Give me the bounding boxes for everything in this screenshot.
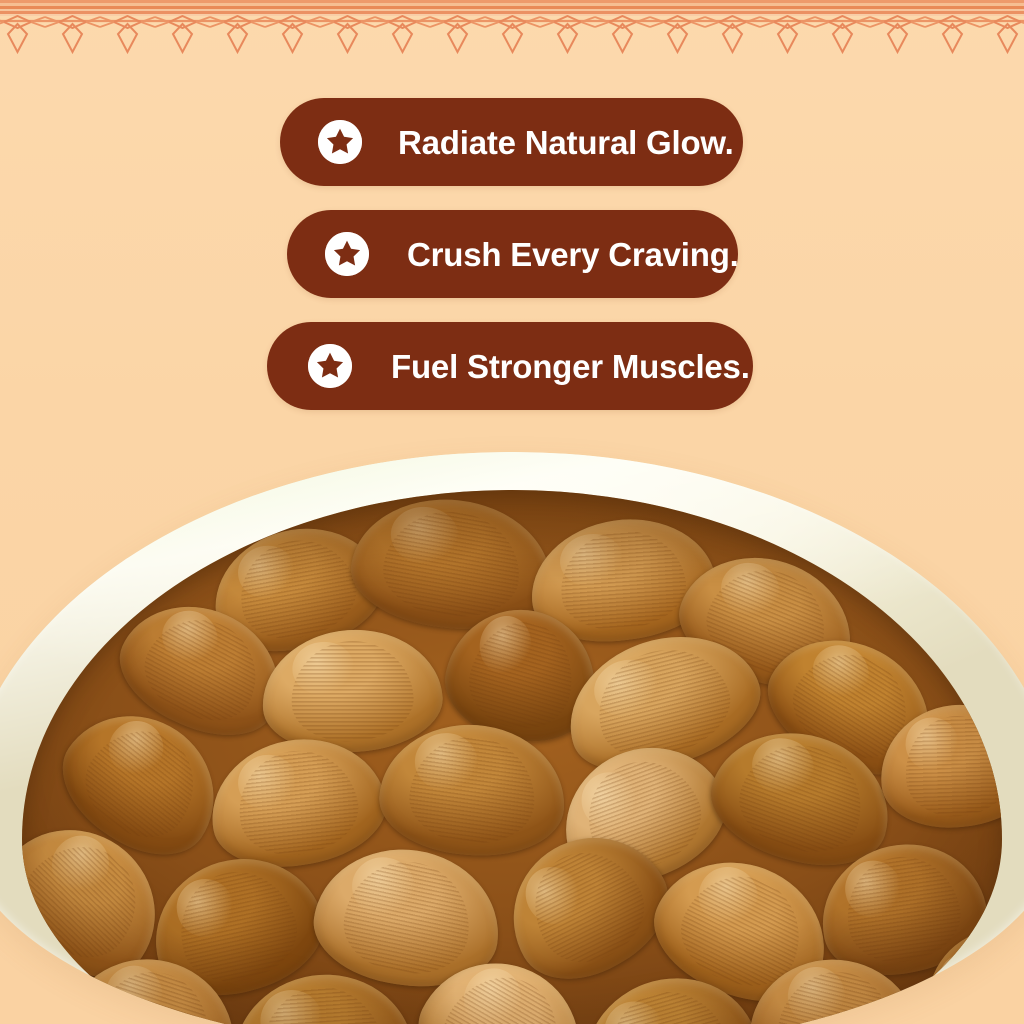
border-stripe (0, 6, 1024, 9)
almond-pile (22, 490, 1002, 1024)
border-stripe (0, 3, 1024, 6)
star-icon (325, 232, 369, 276)
border-stripe (0, 11, 1024, 14)
bowl-rim (0, 452, 1024, 1024)
star-icon (308, 344, 352, 388)
bowl-interior (22, 490, 1002, 1024)
benefit-badge-3[interactable]: Fuel Stronger Muscles. (267, 322, 753, 410)
bowl-of-almonds (0, 452, 1024, 1024)
border-stripe (0, 14, 1024, 16)
decorative-top-border (0, 0, 1024, 56)
benefit-badge-label: Crush Every Craving. (407, 238, 739, 271)
star-icon (318, 120, 362, 164)
benefit-badge-label: Fuel Stronger Muscles. (391, 350, 750, 383)
benefit-badge-2[interactable]: Crush Every Craving. (287, 210, 738, 298)
benefit-badge-label: Radiate Natural Glow. (398, 126, 734, 159)
poster-canvas: Radiate Natural Glow. Crush Every Cravin… (0, 0, 1024, 1024)
border-stripe (0, 0, 1024, 3)
border-motif-pattern (0, 15, 1024, 56)
benefit-badge-1[interactable]: Radiate Natural Glow. (280, 98, 743, 186)
border-stripe (0, 9, 1024, 11)
